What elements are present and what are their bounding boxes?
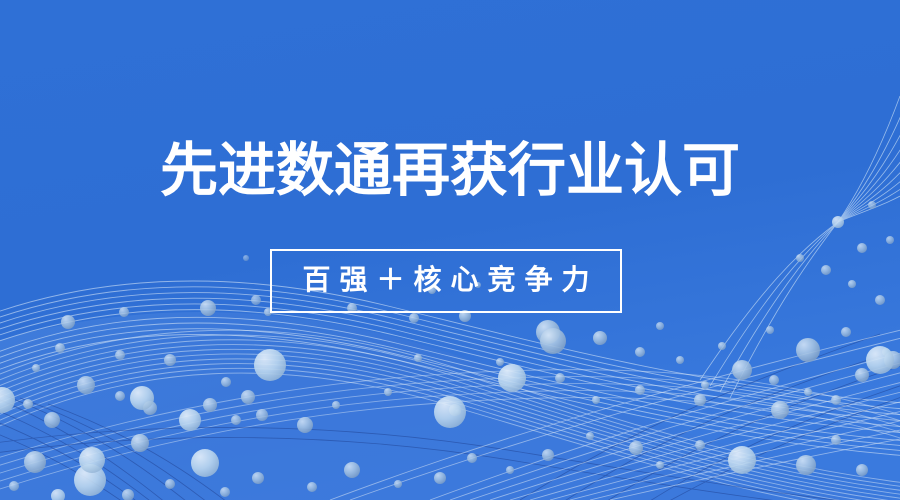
promo-banner: 先进数通再获行业认可 百强＋核心竞争力 bbox=[0, 0, 900, 500]
page-title: 先进数通再获行业认可 bbox=[0, 142, 900, 200]
banner-content: 先进数通再获行业认可 百强＋核心竞争力 bbox=[0, 0, 900, 500]
subtitle-badge-label: 百强＋核心竞争力 bbox=[293, 267, 598, 295]
subtitle-badge: 百强＋核心竞争力 bbox=[270, 249, 622, 313]
